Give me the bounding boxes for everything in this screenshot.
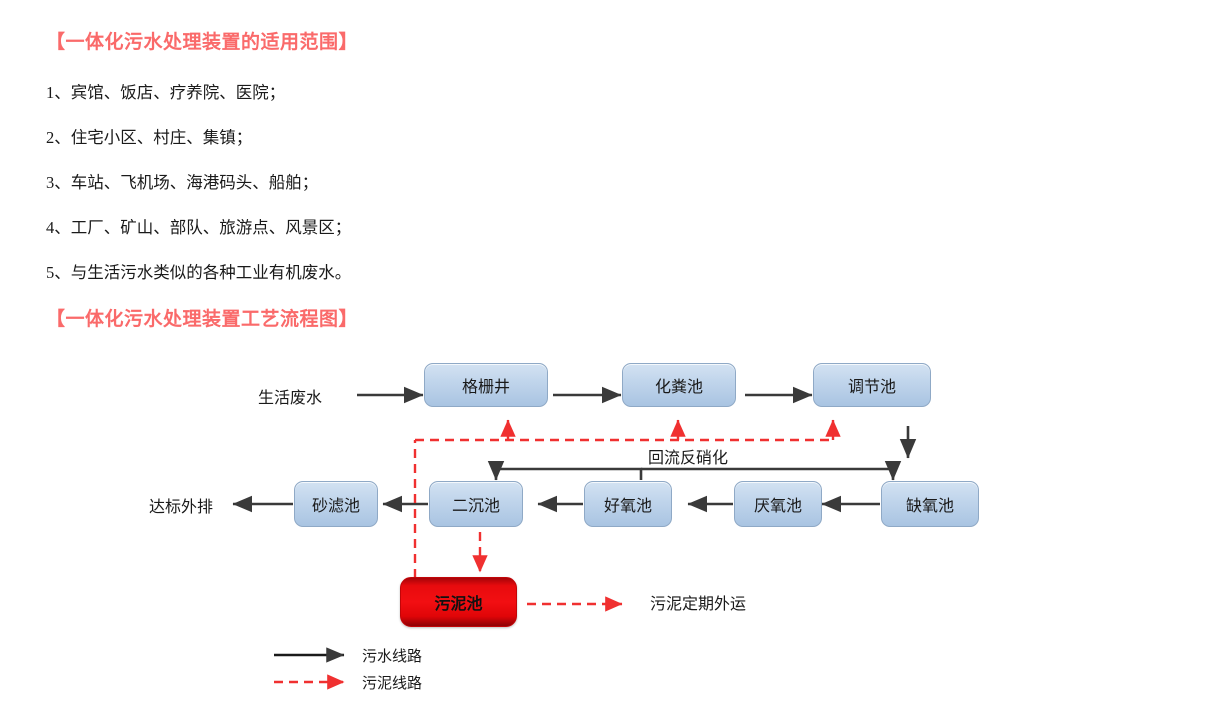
node-regulating-tank-label: 调节池 bbox=[848, 373, 896, 397]
node-sludge-tank[interactable]: 污泥池 bbox=[400, 577, 517, 627]
node-septic-tank[interactable]: 化粪池 bbox=[622, 363, 736, 407]
legend-label-sludge-route: 污泥线路 bbox=[362, 672, 422, 693]
node-secondary-settler[interactable]: 二沉池 bbox=[429, 481, 523, 527]
node-grid-well[interactable]: 格栅井 bbox=[424, 363, 548, 407]
scope-list-item-3: 3、车站、飞机场、海港码头、船舶； bbox=[46, 169, 318, 193]
node-anaerobic-tank-label: 厌氧池 bbox=[754, 492, 802, 516]
scope-heading: 【一体化污水处理装置的适用范围】 bbox=[46, 27, 358, 54]
sludge-transport-label: 污泥定期外运 bbox=[650, 590, 746, 614]
node-grid-well-label: 格栅井 bbox=[462, 373, 510, 397]
scope-list-item-1: 1、宾馆、饭店、疗养院、医院； bbox=[46, 79, 285, 103]
document-page: 【一体化污水处理装置的适用范围】 1、宾馆、饭店、疗养院、医院； 2、住宅小区、… bbox=[0, 0, 1218, 726]
node-anoxic-tank-label: 缺氧池 bbox=[906, 492, 954, 516]
node-anoxic-tank[interactable]: 缺氧池 bbox=[881, 481, 979, 527]
flow-input-label: 生活废水 bbox=[258, 384, 322, 408]
scope-list-item-5: 5、与生活污水类似的各种工业有机废水。 bbox=[46, 259, 351, 283]
flow-output-label: 达标外排 bbox=[149, 493, 213, 517]
node-septic-tank-label: 化粪池 bbox=[655, 373, 703, 397]
node-aerobic-tank[interactable]: 好氧池 bbox=[584, 481, 672, 527]
node-aerobic-tank-label: 好氧池 bbox=[604, 492, 652, 516]
node-regulating-tank[interactable]: 调节池 bbox=[813, 363, 931, 407]
recycle-denitrification-label: 回流反硝化 bbox=[648, 444, 728, 468]
node-sand-filter-label: 砂滤池 bbox=[312, 492, 360, 516]
scope-list-item-2: 2、住宅小区、村庄、集镇； bbox=[46, 124, 252, 148]
node-anaerobic-tank[interactable]: 厌氧池 bbox=[734, 481, 822, 527]
legend-label-water-route: 污水线路 bbox=[362, 645, 422, 666]
node-secondary-settler-label: 二沉池 bbox=[452, 492, 500, 516]
node-sludge-tank-label: 污泥池 bbox=[434, 590, 482, 614]
flow-connectors bbox=[0, 340, 1218, 726]
flow-heading: 【一体化污水处理装置工艺流程图】 bbox=[46, 304, 358, 331]
scope-list-item-4: 4、工厂、矿山、部队、旅游点、风景区； bbox=[46, 214, 351, 238]
process-flow-diagram: 生活废水 达标外排 回流反硝化 污泥定期外运 格栅井 化粪池 调节池 缺氧池 厌… bbox=[0, 340, 1218, 726]
node-sand-filter[interactable]: 砂滤池 bbox=[294, 481, 378, 527]
